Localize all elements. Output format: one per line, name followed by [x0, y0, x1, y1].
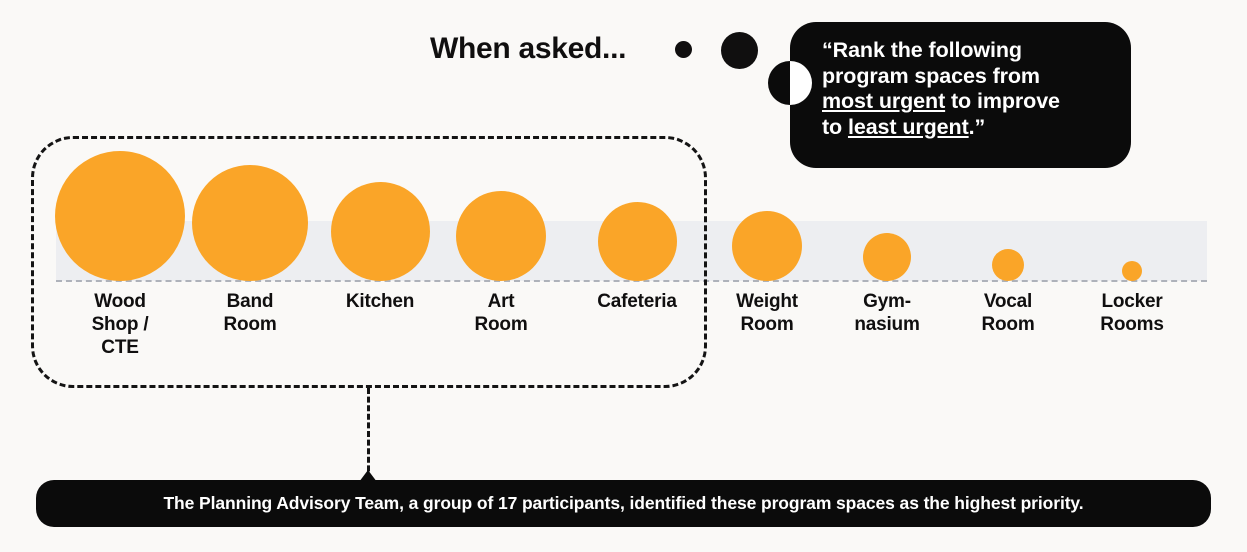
bubble-circle: [732, 211, 802, 281]
quote-line-4-post: .”: [969, 115, 986, 139]
bubble-label: Locker Rooms: [1057, 290, 1207, 336]
quote-callout: “Rank the following program spaces from …: [790, 22, 1131, 168]
bubble-circle: [992, 249, 1024, 281]
page-title: When asked...: [430, 32, 626, 66]
bubble-circle: [1122, 261, 1142, 281]
quote-line-1: “Rank the following: [822, 38, 1022, 62]
quote-most-urgent: most urgent: [822, 89, 945, 113]
speech-bubble-tail-icon: [768, 61, 812, 105]
decorative-dot-small-icon: [675, 41, 692, 58]
quote-line-4-pre: to: [822, 115, 848, 139]
highlight-region: [31, 136, 707, 388]
quote-line-3-rest: to improve: [945, 89, 1060, 113]
caption-bar: The Planning Advisory Team, a group of 1…: [36, 480, 1211, 527]
decorative-dot-medium-icon: [721, 32, 758, 69]
bubble-circle: [863, 233, 911, 281]
highlight-connector: [367, 388, 370, 480]
infographic-canvas: When asked... “Rank the following progra…: [0, 0, 1247, 552]
quote-least-urgent: least urgent: [848, 115, 969, 139]
caption-text: The Planning Advisory Team, a group of 1…: [163, 493, 1083, 514]
quote-text: “Rank the following program spaces from …: [822, 38, 1111, 140]
quote-line-2: program spaces from: [822, 64, 1040, 88]
